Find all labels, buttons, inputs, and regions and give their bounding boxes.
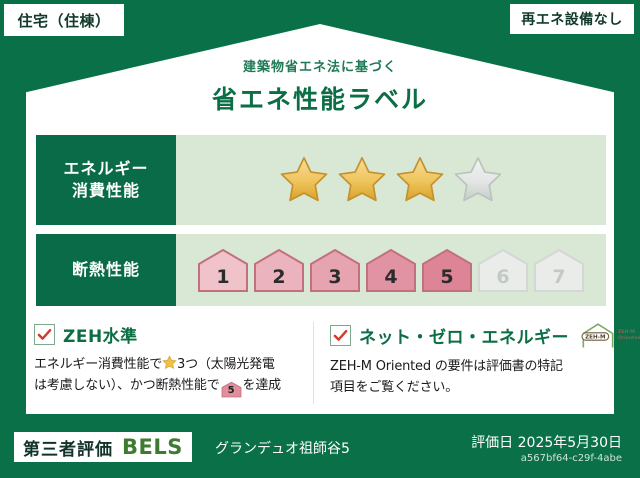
insulation-level-badges: 1234567 <box>197 247 585 293</box>
bels-en-text: BELS <box>122 435 183 459</box>
insulation-performance-row: 断熱性能 1234567 <box>36 234 606 306</box>
page-title: 省エネ性能ラベル <box>0 80 640 116</box>
zeh-body-part4: を達成 <box>243 378 281 393</box>
header-subtitle: 建築物省エネ法に基づく <box>0 56 640 75</box>
star-icon-filled <box>336 155 388 205</box>
zeh-standard-heading: ZEH水準 <box>34 322 302 347</box>
insulation-level-badge-text: 3 <box>328 266 341 288</box>
insulation-level-badge-text: 2 <box>272 266 285 288</box>
net-zero-heading: ネット・ゼロ・エネルギー ZEH-M ZEH-M Oriented <box>330 322 598 349</box>
zeh-m-sub-line1: ZEH-M <box>618 330 635 335</box>
insulation-level-badge: 5 <box>421 247 473 293</box>
insulation-level-badge: 4 <box>365 247 417 293</box>
insulation-level-badge: 7 <box>533 247 585 293</box>
zeh-m-logo-subtext: ZEH-M Oriented <box>618 330 640 341</box>
bels-certification-box: 第三者評価 BELS <box>14 432 192 462</box>
energy-performance-label: 住宅（住棟） 再エネ設備なし 建築物省エネ法に基づく 省エネ性能ラベル エネルギ… <box>0 0 640 478</box>
star-icon-filled <box>394 155 446 205</box>
insulation-level-badge-text: 6 <box>496 266 509 288</box>
net-zero-body-line1: ZEH-M Oriented の要件は評価書の特記 <box>330 359 563 374</box>
label-footer: 第三者評価 BELS グランデュオ祖師谷5 評価日 2025年5月30日 a56… <box>0 420 640 478</box>
star-rating-panel <box>176 135 606 225</box>
insulation-level-panel: 1234567 <box>176 234 606 306</box>
info-column-divider <box>313 322 314 404</box>
energy-performance-label-line2: 消費性能 <box>72 180 140 202</box>
net-zero-energy-section: ネット・ゼロ・エネルギー ZEH-M ZEH-M Oriented ZEH-M … <box>330 322 598 399</box>
insulation-level-badge: 3 <box>309 247 361 293</box>
insulation-level-badge-text: 4 <box>384 266 397 288</box>
evaluation-date: 評価日 2025年5月30日 <box>471 432 622 452</box>
star-icon-empty <box>452 155 504 205</box>
insulation-level-badge: 2 <box>253 247 305 293</box>
bels-jp-text: 第三者評価 <box>23 435 113 460</box>
zeh-m-sub-line2: Oriented <box>618 336 640 341</box>
energy-performance-label: エネルギー 消費性能 <box>36 135 176 225</box>
zeh-body-part3: は考慮しない）、かつ断熱性能で <box>34 378 220 393</box>
building-name: グランデュオ祖師谷5 <box>215 438 350 458</box>
badge-renewable-energy-text: 再エネ設備なし <box>521 9 623 29</box>
zeh-body-part1: エネルギー消費性能で <box>34 357 162 372</box>
net-zero-title: ネット・ゼロ・エネルギー <box>359 323 569 348</box>
badge-building-type-text: 住宅（住棟） <box>17 10 110 31</box>
checkmark-icon <box>330 325 351 346</box>
insulation-level-badge-text: 1 <box>216 266 229 288</box>
insulation-level-badge-text: 7 <box>552 266 565 288</box>
badge-building-type: 住宅（住棟） <box>4 4 124 36</box>
net-zero-body-line2: 項目をご覧ください。 <box>330 380 458 395</box>
energy-performance-label-line1: エネルギー <box>63 158 148 180</box>
zeh-m-logo-icon: ZEH-M ZEH-M Oriented <box>580 322 640 349</box>
badge-renewable-energy: 再エネ設備なし <box>510 4 634 34</box>
insulation-performance-label: 断熱性能 <box>36 234 176 306</box>
zeh-standard-section: ZEH水準 エネルギー消費性能で3つ（太陽光発電 は考慮しない）、かつ断熱性能で… <box>34 322 302 398</box>
svg-text:ZEH-M: ZEH-M <box>585 335 606 341</box>
insulation-level-badge: 6 <box>477 247 529 293</box>
insulation-level-badge: 1 <box>197 247 249 293</box>
insulation-level-5-inline-badge: 5 <box>221 381 242 398</box>
star-icon-filled <box>278 155 330 205</box>
zeh-body-part2: 3つ（太陽光発電 <box>177 357 275 372</box>
zeh-standard-body: エネルギー消費性能で3つ（太陽光発電 は考慮しない）、かつ断熱性能で 5 を達成 <box>34 354 302 398</box>
zeh-standard-title: ZEH水準 <box>63 322 138 347</box>
label-header: 建築物省エネ法に基づく 省エネ性能ラベル <box>0 56 640 116</box>
insulation-level-badge-text: 5 <box>440 266 453 288</box>
checkmark-icon <box>34 324 55 345</box>
net-zero-body: ZEH-M Oriented の要件は評価書の特記 項目をご覧ください。 <box>330 356 598 399</box>
insulation-performance-label-text: 断熱性能 <box>72 259 140 281</box>
evaluation-id: a567bf64-c29f-4abe <box>521 453 622 464</box>
energy-performance-row: エネルギー 消費性能 <box>36 135 606 225</box>
star-icon-inline <box>162 355 177 370</box>
insulation-level-5-inline-text: 5 <box>221 381 242 400</box>
